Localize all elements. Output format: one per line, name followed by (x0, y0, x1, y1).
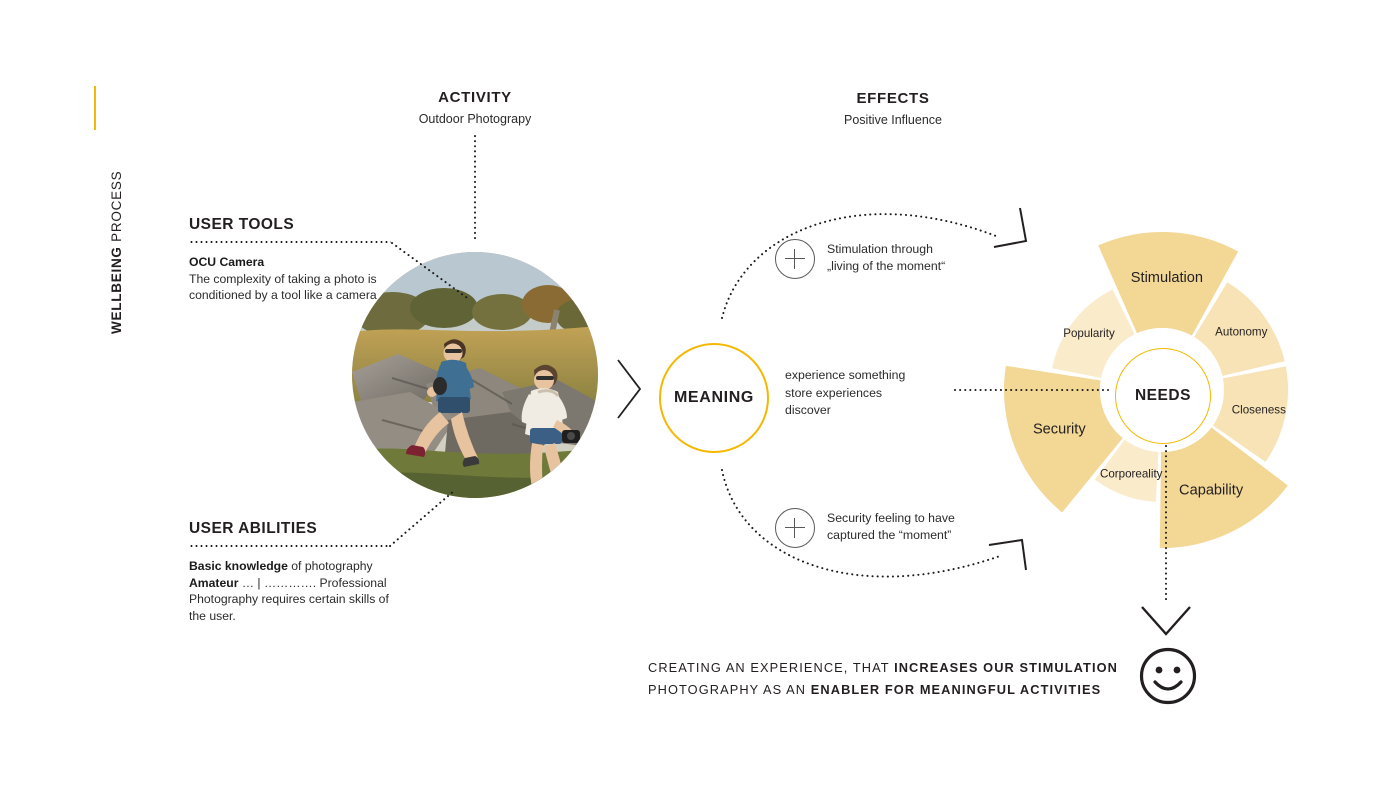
conclusion-text: CREATING AN EXPERIENCE, THAT INCREASES O… (648, 657, 1148, 701)
user-abilities-body: Basic knowledge of photography Amateur …… (189, 558, 404, 624)
effect-note-text: Security feeling to have captured the “m… (827, 508, 955, 544)
plus-icon (775, 508, 815, 548)
user-tools-heading: USER TOOLS (189, 215, 404, 241)
abilities-line2-rest: … | …………. Professional (238, 576, 386, 590)
needs-core-node: NEEDS (1115, 348, 1211, 444)
needs-sector-label: Corporeality (1100, 468, 1163, 481)
user-abilities-heading: USER ABILITIES (189, 519, 404, 545)
activity-title: ACTIVITY (375, 88, 575, 107)
effect-note-line: „living of the moment“ (827, 258, 945, 275)
accent-bar (94, 86, 96, 130)
effect-note-stimulation: Stimulation through „living of the momen… (775, 239, 945, 279)
needs-sector-label: Popularity (1063, 327, 1115, 340)
effect-note-line: Security feeling to have (827, 510, 955, 527)
effects-subtitle: Positive Influence (793, 111, 993, 129)
abilities-line3: Photography requires certain skills of t… (189, 592, 389, 623)
conclusion-line1-plain: CREATING AN EXPERIENCE, THAT (648, 660, 894, 675)
chevron-right-icon (616, 358, 644, 420)
effect-note-line: Stimulation through (827, 241, 945, 258)
activity-photo (352, 252, 598, 498)
needs-sector-label: Security (1033, 421, 1086, 437)
abilities-line1-bold: Basic knowledge (189, 559, 288, 573)
needs-sector-label: Capability (1179, 483, 1244, 499)
abilities-line2-bold: Amateur (189, 576, 238, 590)
needs-sector-label: Stimulation (1131, 270, 1203, 286)
user-tools-lead: OCU Camera (189, 255, 264, 269)
conclusion-line-1: CREATING AN EXPERIENCE, THAT INCREASES O… (648, 657, 1148, 679)
needs-sector-label: Autonomy (1215, 325, 1267, 338)
conclusion-line2-plain: PHOTOGRAPHY AS AN (648, 682, 811, 697)
rail-label-bold: WELLBEING (109, 246, 124, 334)
activity-subtitle: Outdoor Photograpy (375, 110, 575, 128)
user-tools-body: OCU Camera The complexity of taking a ph… (189, 254, 404, 304)
plus-icon (775, 239, 815, 279)
wellbeing-process-label: WELLBEING PROCESS (106, 134, 128, 334)
meaning-node: MEANING (659, 343, 769, 453)
meaning-items: experience something store experiences d… (785, 367, 975, 420)
conclusion-line2-bold: ENABLER FOR MEANINGFUL ACTIVITIES (811, 682, 1101, 697)
meaning-item: discover (785, 402, 975, 420)
needs-sector-label: Closeness (1232, 404, 1286, 417)
abilities-line1-rest: of photography (288, 559, 373, 573)
column-header-effects: EFFECTS Positive Influence (793, 89, 993, 129)
user-tools-divider (189, 241, 391, 243)
rail-label-regular: PROCESS (109, 171, 124, 247)
meaning-item: experience something (785, 367, 975, 385)
smiley-face-icon (1139, 647, 1197, 705)
user-abilities-divider (189, 545, 391, 547)
conclusion-line1-bold: INCREASES OUR STIMULATION (894, 660, 1118, 675)
meaning-label: MEANING (674, 389, 754, 407)
needs-core-label: NEEDS (1135, 387, 1191, 405)
column-header-activity: ACTIVITY Outdoor Photograpy (375, 88, 575, 128)
photo-illustration (352, 252, 598, 498)
meaning-item: store experiences (785, 385, 975, 403)
diagram-canvas: WELLBEING PROCESS ACTIVITY Outdoor Photo… (0, 0, 1400, 788)
user-tools-block: USER TOOLS OCU Camera The complexity of … (189, 215, 404, 304)
effects-title: EFFECTS (793, 89, 993, 108)
effect-note-text: Stimulation through „living of the momen… (827, 239, 945, 275)
user-abilities-block: USER ABILITIES Basic knowledge of photog… (189, 519, 404, 624)
user-tools-text: The complexity of taking a photo is cond… (189, 272, 377, 303)
effect-note-security: Security feeling to have captured the “m… (775, 508, 955, 548)
effect-note-line: captured the “moment” (827, 527, 955, 544)
arrowhead-down-icon (1142, 607, 1190, 634)
conclusion-line-2: PHOTOGRAPHY AS AN ENABLER FOR MEANINGFUL… (648, 679, 1148, 701)
